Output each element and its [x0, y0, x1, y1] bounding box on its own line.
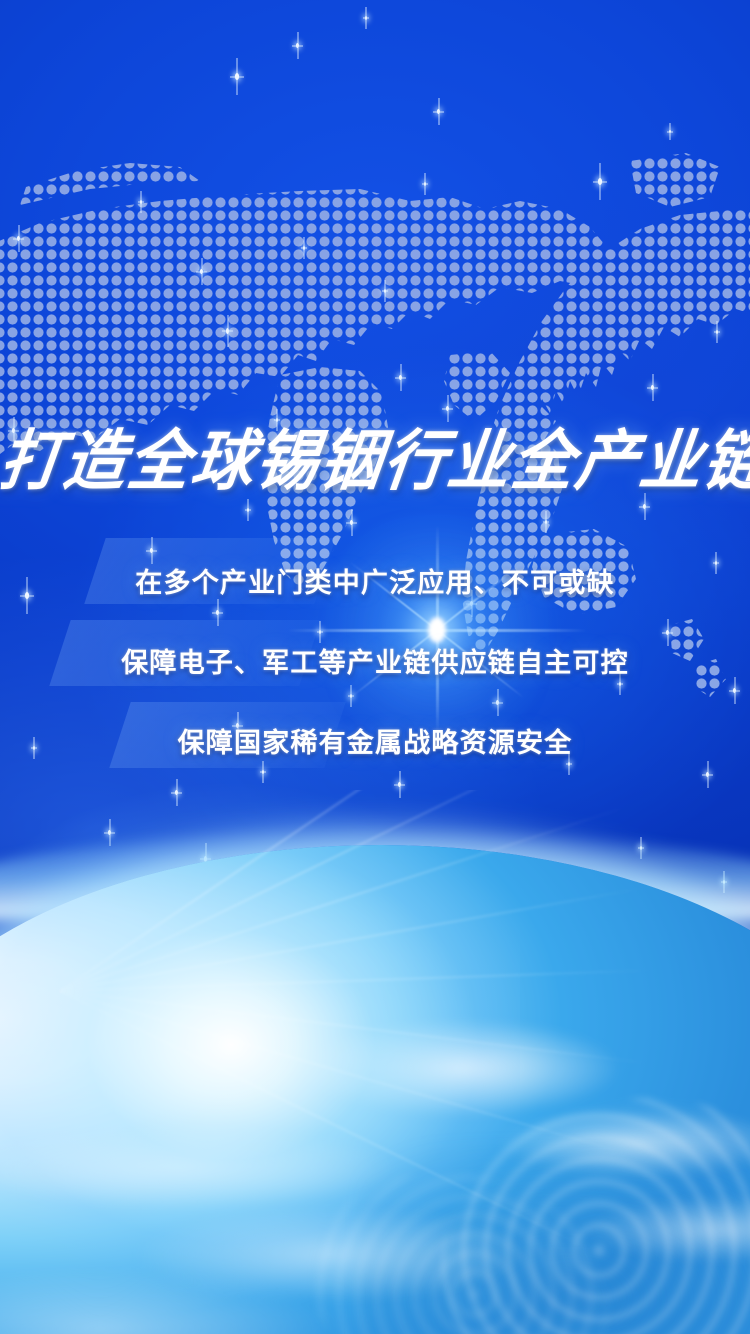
poster-content: 打造全球锡铟行业全产业链链主 在多个产业门类中广泛应用、不可或缺 保障电子、军工…	[0, 0, 750, 1334]
poster-title: 打造全球锡铟行业全产业链链主	[0, 415, 750, 506]
poster-subtitle-1: 在多个产业门类中广泛应用、不可或缺	[0, 561, 750, 600]
poster-canvas: 打造全球锡铟行业全产业链链主 在多个产业门类中广泛应用、不可或缺 保障电子、军工…	[0, 0, 750, 1334]
poster-subtitle-3: 保障国家稀有金属战略资源安全	[0, 721, 750, 760]
poster-subtitle-2: 保障电子、军工等产业链供应链自主可控	[0, 641, 750, 680]
